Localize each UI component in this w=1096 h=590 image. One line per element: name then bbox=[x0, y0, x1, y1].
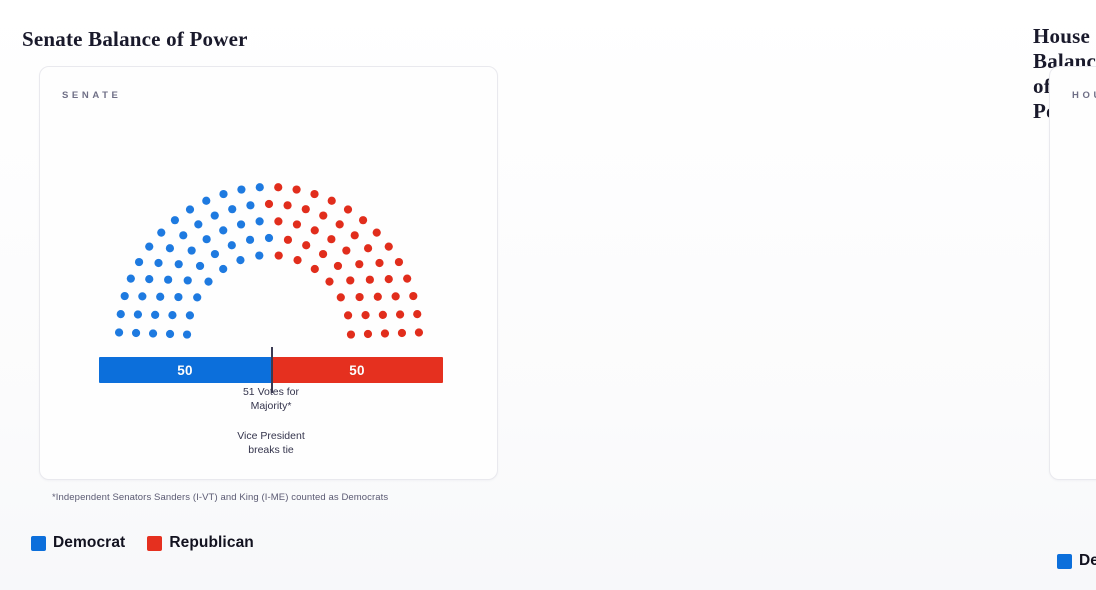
house-seat-svg bbox=[1050, 67, 1096, 361]
seat-dot bbox=[219, 265, 227, 273]
seat-dot bbox=[379, 311, 387, 319]
seat-dot bbox=[392, 292, 400, 300]
seat-dot bbox=[359, 216, 367, 224]
senate-vice-president-note: Vice President breaks tie bbox=[191, 429, 351, 457]
seat-dot bbox=[374, 293, 382, 301]
seat-dot bbox=[256, 183, 264, 191]
seat-dot bbox=[319, 211, 327, 219]
seat-dot bbox=[336, 220, 344, 228]
senate-vp-note-line1: Vice President bbox=[191, 429, 351, 443]
seat-dot bbox=[171, 216, 179, 224]
seat-dot bbox=[202, 197, 210, 205]
legend-item-democrat[interactable]: Democrat bbox=[31, 534, 125, 552]
senate-bar-democrat[interactable]: 50 bbox=[99, 357, 271, 383]
senate-vp-note-line2: breaks tie bbox=[191, 443, 351, 457]
legend-swatch-republican bbox=[147, 536, 162, 551]
seat-dot bbox=[186, 311, 194, 319]
seat-dot bbox=[246, 201, 254, 209]
senate-majority-note-line1: 51 Votes for bbox=[196, 385, 346, 399]
seat-dot bbox=[193, 293, 201, 301]
seat-dot bbox=[385, 275, 393, 283]
seat-dot bbox=[302, 241, 310, 249]
seat-dot bbox=[145, 275, 153, 283]
seat-dot bbox=[265, 200, 273, 208]
seat-dot bbox=[328, 197, 336, 205]
seat-dot bbox=[115, 328, 123, 336]
seat-dot bbox=[157, 229, 165, 237]
senate-card: SENATE 50 50 51 Votes for Majority* Vice… bbox=[39, 66, 498, 480]
seat-dot bbox=[274, 183, 282, 191]
seat-dot bbox=[211, 211, 219, 219]
seat-dot bbox=[164, 276, 172, 284]
seat-dot bbox=[283, 201, 291, 209]
seat-dot bbox=[395, 258, 403, 266]
seat-dot bbox=[219, 226, 227, 234]
seat-dot bbox=[413, 310, 421, 318]
seat-dot bbox=[132, 329, 140, 337]
legend-label-republican: Republican bbox=[169, 534, 254, 552]
seat-dot bbox=[337, 293, 345, 301]
seat-dot bbox=[127, 275, 135, 283]
seat-dot bbox=[145, 243, 153, 251]
seat-dot bbox=[403, 275, 411, 283]
seat-dot bbox=[168, 311, 176, 319]
seat-dot bbox=[311, 226, 319, 234]
seat-dot bbox=[311, 265, 319, 273]
seat-dot bbox=[188, 246, 196, 254]
seat-dot bbox=[327, 235, 335, 243]
seat-dot bbox=[398, 329, 406, 337]
senate-bar-republican[interactable]: 50 bbox=[271, 357, 443, 383]
seat-dot bbox=[166, 244, 174, 252]
seat-dot bbox=[211, 250, 219, 258]
senate-majority-note: 51 Votes for Majority* bbox=[196, 385, 346, 413]
senate-footnote: *Independent Senators Sanders (I-VT) and… bbox=[52, 492, 388, 503]
seat-dot bbox=[265, 234, 273, 242]
seat-dot bbox=[274, 217, 282, 225]
seat-dot bbox=[366, 276, 374, 284]
seat-dot bbox=[166, 330, 174, 338]
senate-seat-svg bbox=[40, 67, 499, 357]
seat-dot bbox=[284, 236, 292, 244]
seat-dot bbox=[203, 235, 211, 243]
seat-dot bbox=[219, 190, 227, 198]
seat-dot bbox=[302, 205, 310, 213]
seat-dot bbox=[138, 292, 146, 300]
legend-item-democrat[interactable]: Democrat bbox=[1057, 552, 1096, 570]
seat-dot bbox=[156, 293, 164, 301]
seat-dot bbox=[184, 276, 192, 284]
seat-dot bbox=[355, 260, 363, 268]
legend-label-democrat: Democrat bbox=[53, 534, 125, 552]
seat-dot bbox=[134, 310, 142, 318]
house-legend: DemocratRepublicanNot yet called bbox=[1057, 534, 1096, 588]
seat-dot bbox=[344, 311, 352, 319]
seat-dot bbox=[364, 330, 372, 338]
house-card: HOUSE 222 212 218 Votes for Majority bbox=[1049, 66, 1096, 480]
seat-dot bbox=[256, 217, 264, 225]
seat-dot bbox=[347, 330, 355, 338]
seat-dot bbox=[237, 220, 245, 228]
seat-dot bbox=[325, 278, 333, 286]
seat-dot bbox=[228, 241, 236, 249]
seat-dot bbox=[237, 185, 245, 193]
senate-majority-note-line2: Majority* bbox=[196, 399, 346, 413]
senate-panel-title: Senate Balance of Power bbox=[22, 27, 248, 52]
seat-dot bbox=[149, 329, 157, 337]
seat-dot bbox=[174, 293, 182, 301]
seat-dot bbox=[342, 246, 350, 254]
seat-dot bbox=[381, 329, 389, 337]
seat-dot bbox=[135, 258, 143, 266]
seat-dot bbox=[346, 276, 354, 284]
seat-dot bbox=[385, 243, 393, 251]
seat-dot bbox=[334, 262, 342, 270]
seat-dot bbox=[409, 292, 417, 300]
seat-dot bbox=[351, 231, 359, 239]
seat-dot bbox=[344, 205, 352, 213]
seat-dot bbox=[175, 260, 183, 268]
house-panel: House Balance of Power HOUSE 222 212 218… bbox=[516, 0, 1096, 590]
seat-dot bbox=[355, 293, 363, 301]
seat-dot bbox=[121, 292, 129, 300]
legend-swatch-democrat bbox=[31, 536, 46, 551]
senate-legend: DemocratRepublican bbox=[31, 534, 254, 552]
seat-dot bbox=[255, 251, 263, 259]
seat-dot bbox=[293, 220, 301, 228]
seat-dot bbox=[246, 236, 254, 244]
seat-dot bbox=[364, 244, 372, 252]
seat-dot bbox=[361, 311, 369, 319]
seat-dot bbox=[310, 190, 318, 198]
senate-seat-chart bbox=[40, 67, 497, 357]
seat-dot bbox=[228, 205, 236, 213]
seat-dot bbox=[186, 205, 194, 213]
seat-dot bbox=[151, 311, 159, 319]
balance-of-power-page: Senate Balance of Power SENATE 50 50 51 … bbox=[0, 0, 1096, 590]
seat-dot bbox=[373, 229, 381, 237]
seat-dot bbox=[275, 251, 283, 259]
seat-dot bbox=[375, 259, 383, 267]
legend-swatch-democrat bbox=[1057, 554, 1072, 569]
legend-item-republican[interactable]: Republican bbox=[147, 534, 254, 552]
seat-dot bbox=[194, 220, 202, 228]
seat-dot bbox=[319, 250, 327, 258]
seat-dot bbox=[117, 310, 125, 318]
seat-dot bbox=[196, 262, 204, 270]
seat-dot bbox=[236, 256, 244, 264]
seat-dot bbox=[179, 231, 187, 239]
house-seat-chart bbox=[1050, 67, 1096, 361]
seat-dot bbox=[415, 328, 423, 336]
seat-dot bbox=[396, 310, 404, 318]
seat-dot bbox=[204, 278, 212, 286]
seat-dot bbox=[183, 330, 191, 338]
seat-dot bbox=[154, 259, 162, 267]
seat-dot bbox=[292, 185, 300, 193]
legend-label-democrat: Democrat bbox=[1079, 552, 1096, 570]
senate-panel: Senate Balance of Power SENATE 50 50 51 … bbox=[0, 0, 516, 590]
senate-bar-wrap: 50 50 51 Votes for Majority* Vice Presid… bbox=[99, 357, 443, 383]
seat-dot bbox=[293, 256, 301, 264]
